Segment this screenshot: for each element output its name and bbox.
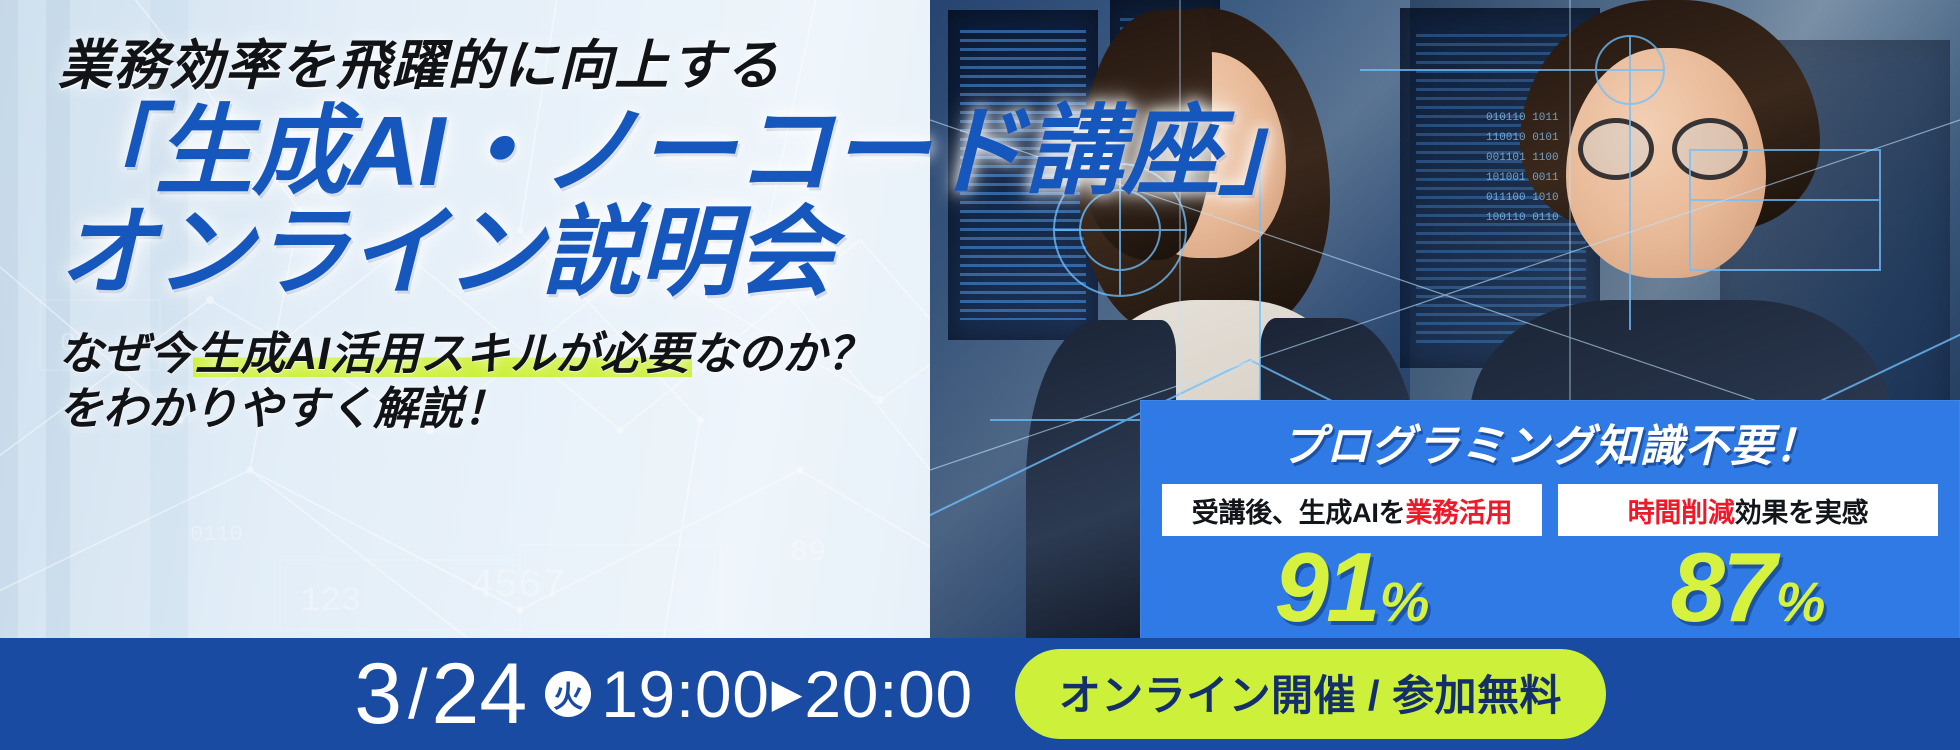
event-month: 3 bbox=[354, 651, 402, 737]
svg-text:123: 123 bbox=[300, 583, 361, 621]
lead-highlight: 生成AI活用スキルが必要 bbox=[193, 328, 692, 379]
lead-line-2: をわかりやすく解説！ bbox=[58, 382, 958, 437]
svg-text:001101 1100: 001101 1100 bbox=[1486, 152, 1559, 164]
stat-value-1-unit: % bbox=[1380, 570, 1430, 633]
cta-badge[interactable]: オンライン開催 / 参加無料 bbox=[1015, 649, 1606, 739]
svg-text:100110 0110: 100110 0110 bbox=[1486, 212, 1559, 224]
stat-label-1-pre: 受講後、生成AIを bbox=[1192, 498, 1406, 528]
headline-block: 業務効率を飛躍的に向上する 「生成AI・ノーコード講座」 オンライン説明会 なぜ… bbox=[58, 38, 958, 437]
svg-text:011100 1010: 011100 1010 bbox=[1486, 192, 1559, 204]
date-separator: / bbox=[408, 659, 427, 729]
stats-value-row: 91% 87% bbox=[1140, 536, 1960, 636]
svg-text:0110: 0110 bbox=[190, 522, 243, 547]
footer-bar: 3 / 24 火 19:00 ▶ 20:00 オンライン開催 / 参加無料 bbox=[0, 638, 1960, 750]
lead-line-1: なぜ今生成AI活用スキルが必要なのか？ bbox=[58, 327, 958, 382]
svg-text:89: 89 bbox=[790, 536, 826, 570]
stat-value-1: 91% bbox=[1162, 538, 1542, 636]
stat-label-2: 時間削減効果を実感 bbox=[1558, 484, 1938, 536]
kicker-text: 業務効率を飛躍的に向上する bbox=[58, 38, 958, 95]
event-time-end: 20:00 bbox=[804, 661, 972, 727]
title-line-1: 「生成AI・ノーコード講座」 bbox=[58, 103, 958, 200]
stat-value-1-number: 91 bbox=[1275, 532, 1378, 642]
stat-label-1-emphasis: 業務活用 bbox=[1405, 498, 1512, 528]
stat-value-2: 87% bbox=[1558, 538, 1938, 636]
lead-paragraph: なぜ今生成AI活用スキルが必要なのか？ をわかりやすく解説！ bbox=[58, 327, 958, 437]
svg-text:010110 1011: 010110 1011 bbox=[1486, 112, 1559, 124]
stat-label-2-post: 効果を実感 bbox=[1735, 498, 1869, 528]
stat-label-2-emphasis: 時間削減 bbox=[1628, 498, 1735, 528]
event-time-start: 19:00 bbox=[601, 661, 769, 727]
title-line-2: オンライン説明会 bbox=[58, 204, 958, 301]
stat-label-1: 受講後、生成AIを業務活用 bbox=[1162, 484, 1542, 536]
stats-headline: プログラミング知識不要！ bbox=[1140, 400, 1960, 474]
stats-label-row: 受講後、生成AIを業務活用 時間削減効果を実感 bbox=[1140, 474, 1960, 536]
webinar-banner: 123 4567 01 89 0110 bbox=[0, 0, 1960, 750]
stat-value-2-unit: % bbox=[1776, 570, 1826, 633]
event-day: 24 bbox=[432, 651, 528, 737]
stat-value-2-number: 87 bbox=[1671, 532, 1774, 642]
svg-text:101001 0011: 101001 0011 bbox=[1486, 172, 1559, 184]
svg-text:4567: 4567 bbox=[470, 564, 566, 609]
svg-text:110010 0101: 110010 0101 bbox=[1486, 132, 1559, 144]
lead-post: なのか？ bbox=[692, 328, 872, 379]
lead-pre: なぜ今 bbox=[58, 328, 193, 379]
event-datetime: 3 / 24 火 19:00 ▶ 20:00 bbox=[354, 651, 973, 737]
stats-panel: プログラミング知識不要！ 受講後、生成AIを業務活用 時間削減効果を実感 91%… bbox=[1140, 400, 1960, 640]
event-day-of-week-badge: 火 bbox=[545, 671, 591, 717]
time-range-arrow-icon: ▶ bbox=[772, 671, 803, 717]
